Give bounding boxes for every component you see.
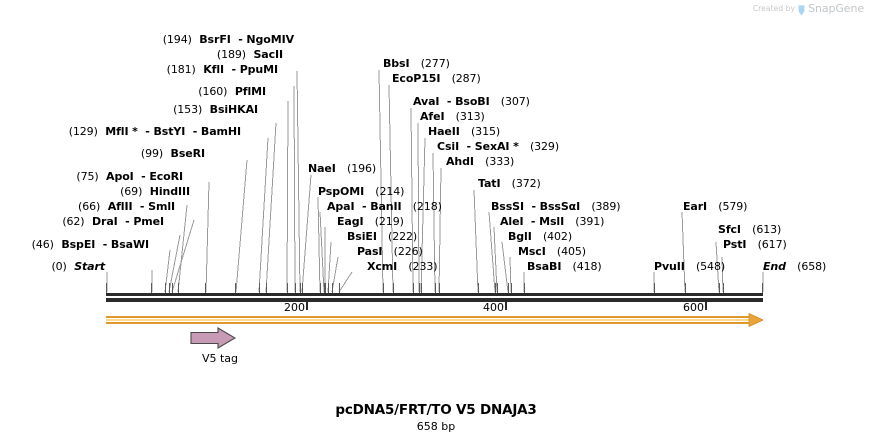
site-position: (189) [217, 48, 246, 61]
enzyme-name: SacII [253, 48, 283, 61]
site-position: (389) [591, 200, 620, 213]
site-label-69[interactable]: (69) HindIII [0, 186, 190, 197]
site-position: (233) [408, 260, 437, 273]
axis-tick-200-mark [306, 302, 308, 310]
enzyme-name: BspEI [61, 238, 95, 251]
site-label-181[interactable]: (181) KflI - PpuMI [0, 64, 278, 75]
feature-label-v5-tag: V5 tag [190, 352, 250, 365]
enzyme-name: SexAI * [475, 140, 519, 153]
site-position: (222) [388, 230, 417, 243]
site-label-233[interactable]: XcmI (233) [367, 261, 437, 272]
site-position: (219) [375, 215, 404, 228]
site-label-391[interactable]: AleI - MslI (391) [500, 216, 604, 227]
enzyme-name: MscI [518, 245, 546, 258]
leader-line [259, 138, 268, 292]
site-position: (226) [394, 245, 423, 258]
site-position: (613) [752, 223, 781, 236]
plasmid-title: pcDNA5/FRT/TO V5 DNAJA3 [0, 402, 872, 418]
enzyme-name: AvaI [413, 95, 439, 108]
enzyme-name: EcoRI [149, 170, 183, 183]
enzyme-name: ApaI [327, 200, 355, 213]
leader-line [474, 190, 478, 292]
leader-line [297, 71, 300, 292]
sequence-ruler-bar-lower [106, 298, 763, 302]
site-label-389[interactable]: BssSI - BssSαI (389) [491, 201, 620, 212]
site-label-153[interactable]: (153) BsiHKAI [0, 104, 258, 115]
site-label-277[interactable]: BbsI (277) [383, 58, 450, 69]
site-position: (315) [471, 125, 500, 138]
site-position: (329) [530, 140, 559, 153]
site-label-129[interactable]: (129) MflI * - BstYI - BamHI [0, 126, 241, 137]
site-position: (46) [32, 238, 54, 251]
site-position: (66) [78, 200, 100, 213]
enzyme-name: HaeII [428, 125, 460, 138]
site-label-end[interactable]: End (658) [763, 261, 826, 272]
site-label-315[interactable]: HaeII (315) [428, 126, 500, 137]
site-label-66[interactable]: (66) AflII - SmlI [0, 201, 175, 212]
plasmid-size: 658 bp [0, 420, 872, 433]
site-label-313[interactable]: AfeI (313) [420, 111, 485, 122]
enzyme-name: BseRI [171, 147, 205, 160]
site-position: (214) [375, 185, 404, 198]
site-label-62[interactable]: (62) DraI - PmeI [0, 216, 164, 227]
site-position: (287) [452, 72, 481, 85]
axis-tick-600-mark [705, 302, 707, 310]
enzyme-name: MflI * [105, 125, 138, 138]
site-position: (160) [198, 85, 227, 98]
site-label-189[interactable]: (189) SacII [0, 49, 283, 60]
feature-arrow-v5-tag[interactable] [190, 327, 236, 349]
end-label: End [763, 260, 786, 273]
enzyme-name: PvuII [654, 260, 685, 273]
enzyme-name: EcoP15I [392, 72, 440, 85]
enzyme-name: BbsI [383, 57, 410, 70]
site-position: (277) [421, 57, 450, 70]
site-position: (579) [718, 200, 747, 213]
enzyme-name: BsiHKAI [210, 103, 258, 116]
site-position: (372) [512, 177, 541, 190]
site-label-75[interactable]: (75) ApoI - EcoRI [0, 171, 183, 182]
enzyme-name: BanII [370, 200, 401, 213]
enzyme-name: TatI [478, 177, 500, 190]
site-position: (69) [120, 185, 142, 198]
axis-tick-400-mark [505, 302, 507, 310]
site-position: (307) [501, 95, 530, 108]
leader-line [320, 212, 324, 292]
enzyme-name: BsoBI [455, 95, 489, 108]
enzyme-name: PstI [723, 238, 746, 251]
site-label-218[interactable]: ApaI - BanII (218) [327, 201, 442, 212]
snapgene-linear-map: Created by SnapGene [0, 0, 872, 441]
site-label-329[interactable]: CsiI - SexAI * (329) [437, 141, 559, 152]
site-label-402[interactable]: BglI (402) [508, 231, 572, 242]
enzyme-name: CsiI [437, 140, 459, 153]
enzyme-name: NaeI [308, 162, 336, 175]
enzyme-name: PspOMI [318, 185, 364, 198]
site-position: (62) [62, 215, 84, 228]
site-label-287[interactable]: EcoP15I (287) [392, 73, 481, 84]
enzyme-name: ApoI [106, 170, 134, 183]
site-position: (548) [696, 260, 725, 273]
site-label-160[interactable]: (160) PflMI [0, 86, 266, 97]
leader-line [682, 212, 685, 292]
site-position: (99) [141, 147, 163, 160]
leader-line [379, 70, 383, 292]
enzyme-name: EagI [337, 215, 364, 228]
leader-line [172, 220, 194, 292]
site-position: (402) [543, 230, 572, 243]
leader-line [287, 101, 288, 292]
enzyme-name: BsrFI [199, 33, 230, 46]
leader-line [302, 175, 311, 292]
enzyme-name: BsiEI [347, 230, 377, 243]
site-label-start[interactable]: (0) Start [0, 261, 105, 272]
site-position: (617) [758, 238, 787, 251]
enzyme-name: BamHI [201, 125, 241, 138]
site-label-222[interactable]: BsiEI (222) [347, 231, 417, 242]
site-position: (196) [347, 162, 376, 175]
enzyme-name: BsaBI [527, 260, 561, 273]
enzyme-name: EarI [683, 200, 707, 213]
enzyme-name: BglI [508, 230, 532, 243]
enzyme-name: KflI [203, 63, 224, 76]
start-position: (0) [51, 260, 66, 273]
leader-line [489, 212, 495, 292]
site-position: (405) [557, 245, 586, 258]
site-position: (313) [456, 110, 485, 123]
site-position: (194) [163, 33, 192, 46]
site-label-196[interactable]: NaeI (196) [308, 163, 376, 174]
enzyme-name: AleI [500, 215, 523, 228]
site-label-307[interactable]: AvaI - BsoBI (307) [413, 96, 530, 107]
site-position: (75) [76, 170, 98, 183]
site-position: (218) [413, 200, 442, 213]
start-label: Start [74, 260, 105, 273]
site-label-405[interactable]: MscI (405) [518, 246, 586, 257]
enzyme-name: SmlI [148, 200, 175, 213]
site-position: (418) [573, 260, 602, 273]
site-label-372[interactable]: TatI (372) [478, 178, 541, 189]
leader-line [294, 86, 295, 292]
site-label-214[interactable]: PspOMI (214) [318, 186, 404, 197]
enzyme-name: BssSαI [540, 200, 580, 213]
enzyme-name: AhdI [446, 155, 474, 168]
enzyme-name: MslI [539, 215, 564, 228]
end-position: (658) [797, 260, 826, 273]
site-position: (181) [167, 63, 196, 76]
site-position: (391) [575, 215, 604, 228]
enzyme-name: PflMI [235, 85, 266, 98]
enzyme-name: AfeI [420, 110, 444, 123]
site-position: (333) [485, 155, 514, 168]
enzyme-name: SfcI [718, 223, 741, 236]
enzyme-name: PmeI [133, 215, 164, 228]
enzyme-name: XcmI [367, 260, 397, 273]
enzyme-name: NgoMIV [246, 33, 294, 46]
site-label-617[interactable]: PstI (617) [723, 239, 787, 250]
site-label-219[interactable]: EagI (219) [337, 216, 404, 227]
site-label-613[interactable]: SfcI (613) [718, 224, 781, 235]
site-label-333[interactable]: AhdI (333) [446, 156, 514, 167]
leader-line [318, 197, 320, 292]
sequence-direction-arrow [106, 313, 763, 327]
site-label-418[interactable]: BsaBI (418) [527, 261, 602, 272]
site-label-579[interactable]: EarI (579) [683, 201, 747, 212]
leader-line [439, 168, 441, 292]
site-label-226[interactable]: PasI (226) [357, 246, 423, 257]
sequence-ruler-bar-upper [106, 293, 763, 296]
enzyme-name: HindIII [150, 185, 190, 198]
enzyme-name: BstYI [154, 125, 186, 138]
site-label-194[interactable]: (194) BsrFI - NgoMIV [0, 34, 294, 45]
enzyme-name: BsaWI [111, 238, 149, 251]
leader-line [236, 160, 247, 292]
site-position: (153) [173, 103, 202, 116]
enzyme-name: DraI [92, 215, 118, 228]
enzyme-name: AflII [108, 200, 133, 213]
enzyme-name: PpuMI [240, 63, 278, 76]
site-position: (129) [69, 125, 98, 138]
site-label-46[interactable]: (46) BspEI - BsaWI [0, 239, 149, 250]
leader-line [206, 182, 209, 292]
site-label-548[interactable]: PvuII (548) [654, 261, 725, 272]
enzyme-name: BssSI [491, 200, 524, 213]
enzyme-name: PasI [357, 245, 382, 258]
site-label-99[interactable]: (99) BseRI [0, 148, 205, 159]
